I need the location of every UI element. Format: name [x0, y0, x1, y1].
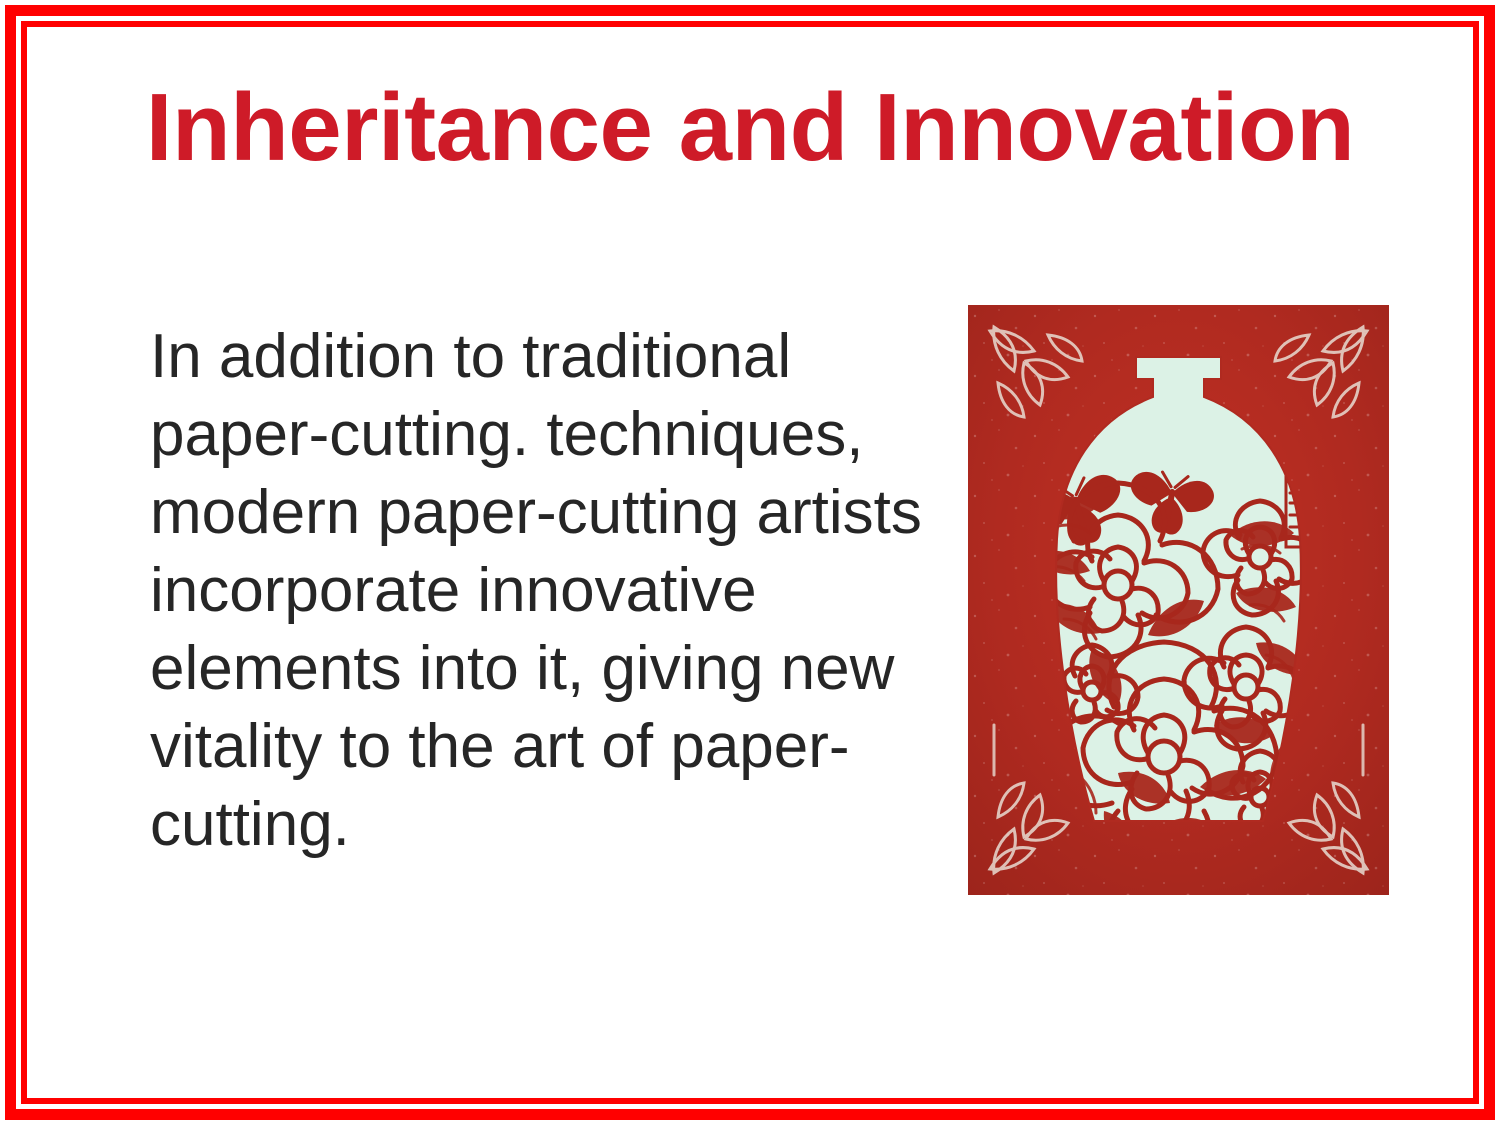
page-title: Inheritance and Innovation: [60, 78, 1440, 178]
slide: Inheritance and Innovation In addition t…: [0, 0, 1500, 1125]
papercut-vase-image: [968, 305, 1389, 895]
body-paragraph: In addition to traditional paper-cutting…: [150, 318, 950, 864]
papercut-vase-illustration: [968, 305, 1389, 895]
body-text-block: In addition to traditional paper-cutting…: [150, 318, 950, 864]
